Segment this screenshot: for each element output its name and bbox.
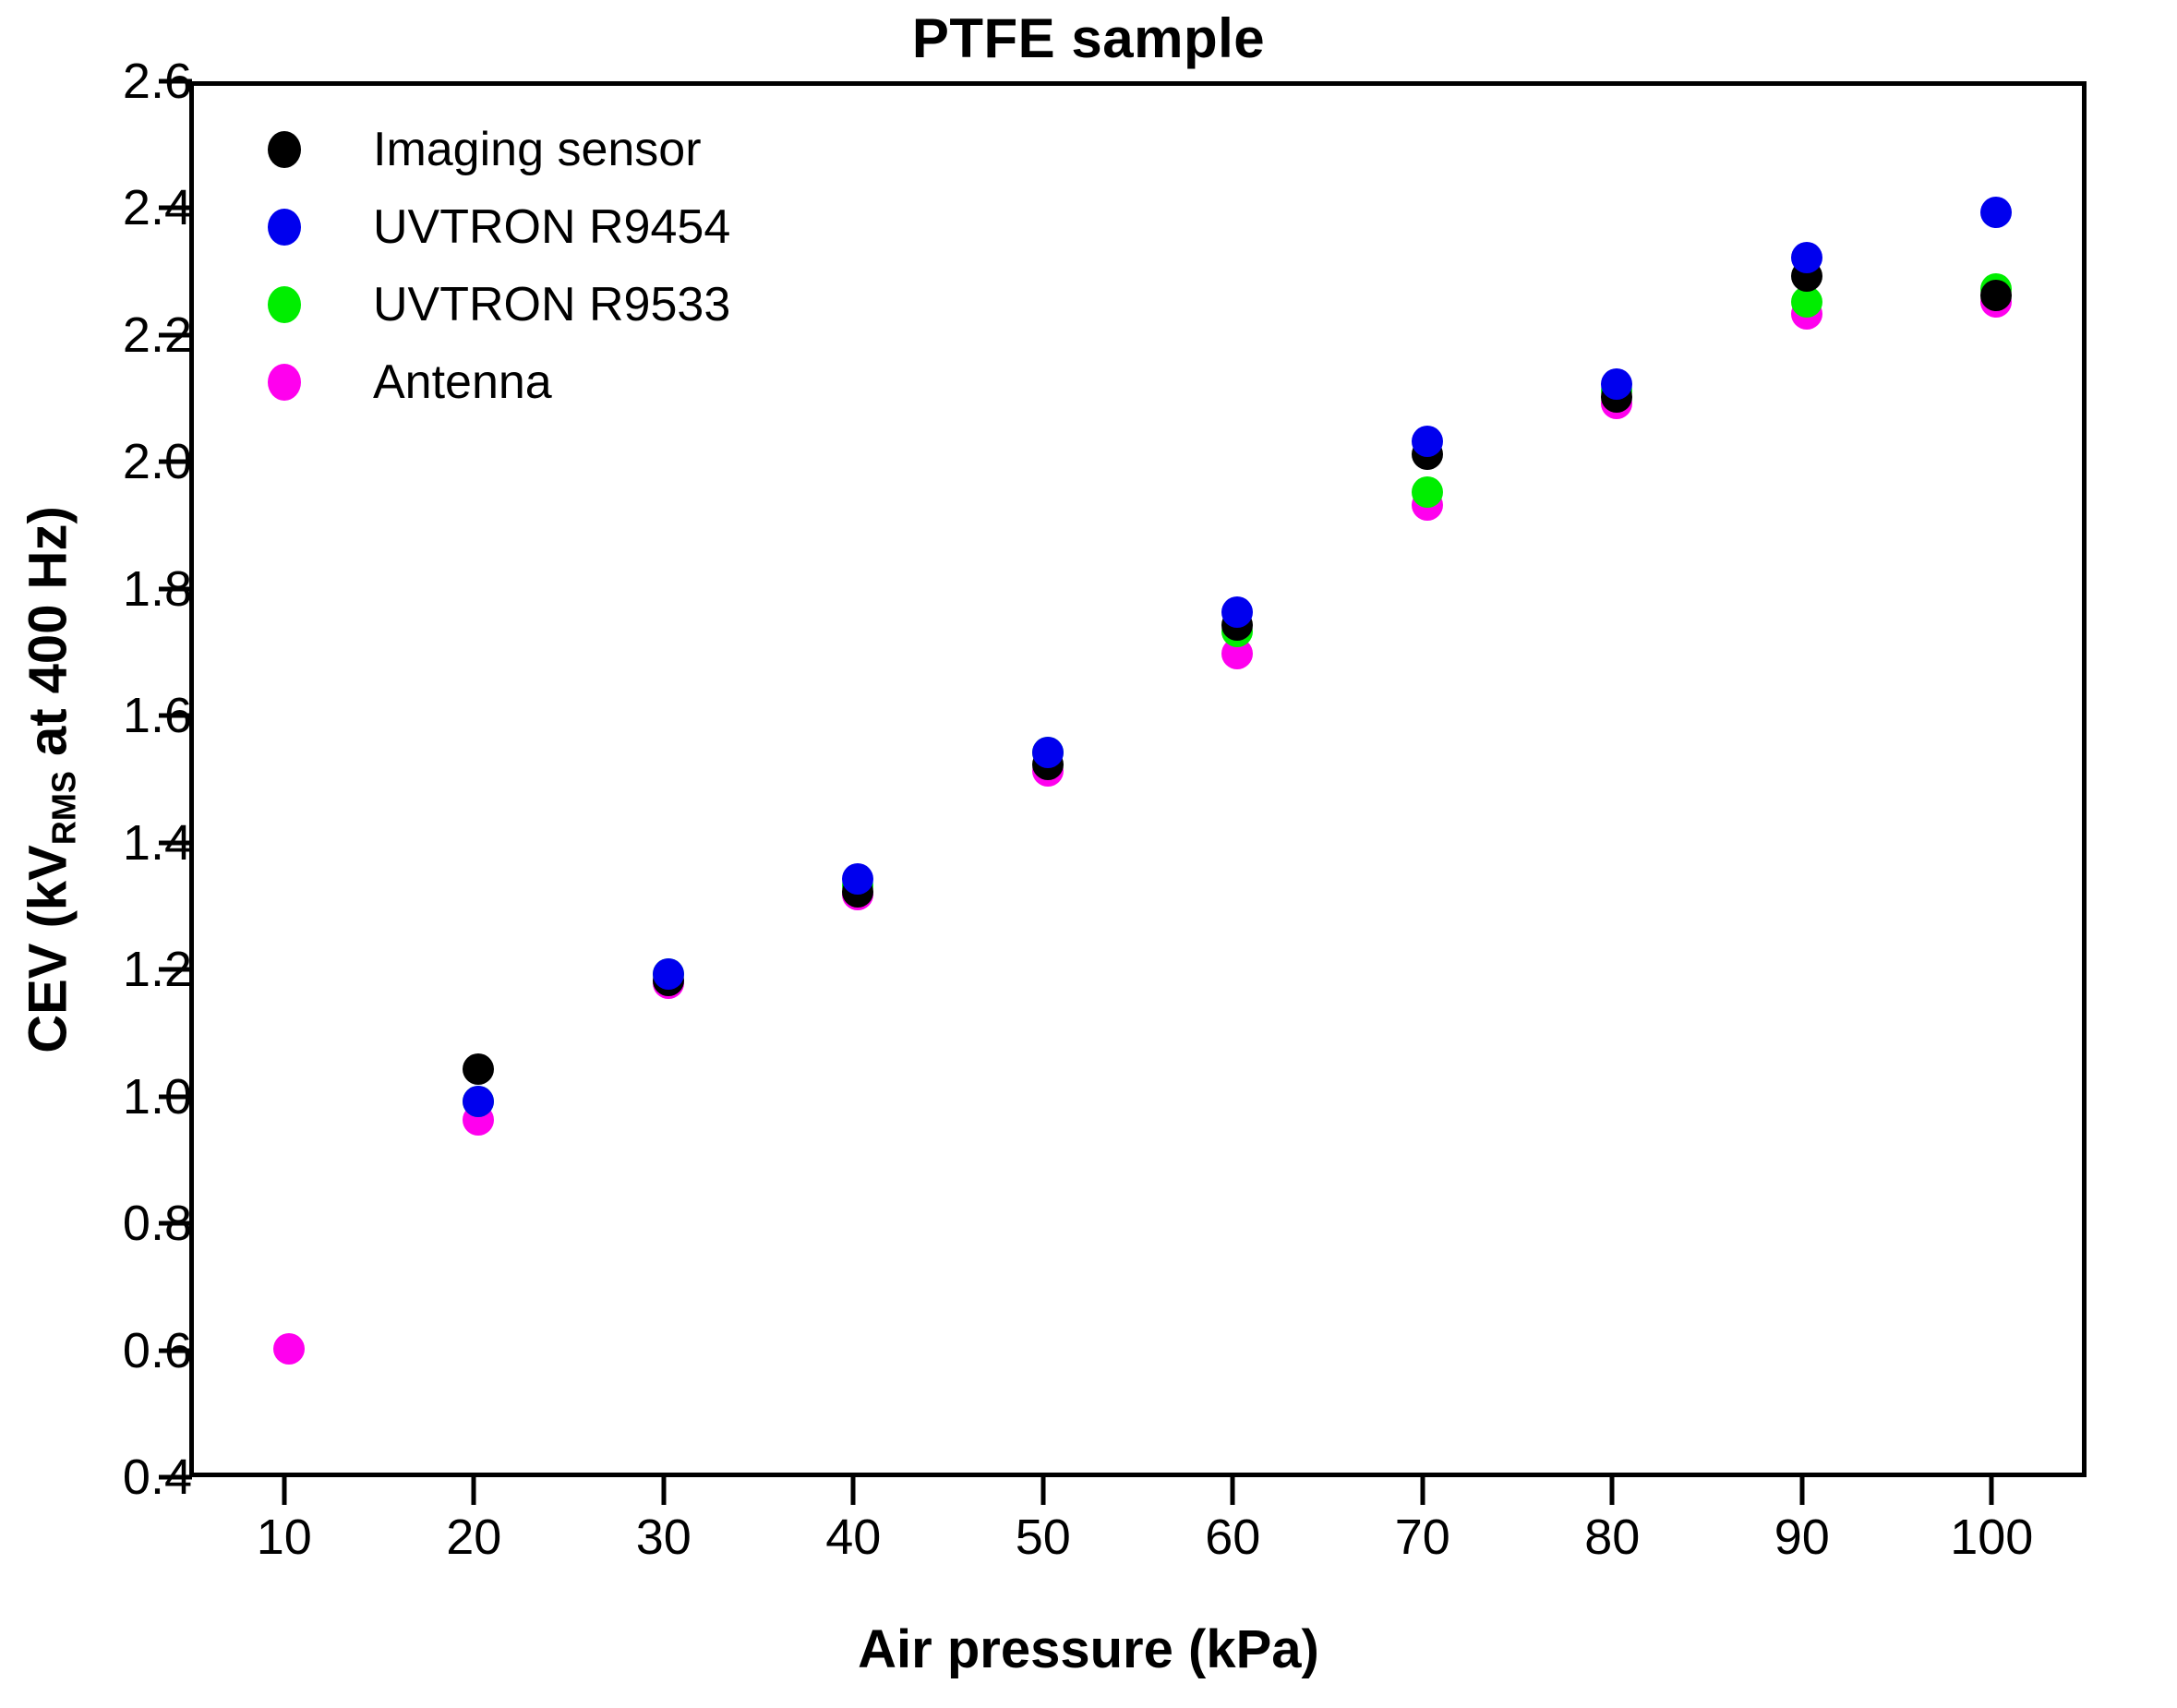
legend-item-label: UVTRON R9454 <box>373 203 730 251</box>
x-tick-label: 30 <box>571 1512 756 1562</box>
y-tick-mark <box>159 206 192 210</box>
x-tick-mark <box>282 1477 286 1505</box>
y-tick-mark <box>159 1475 192 1480</box>
y-tick-mark <box>159 714 192 718</box>
y-tick-mark <box>159 840 192 845</box>
y-axis-title-post: at 400 Hz) <box>18 506 78 771</box>
legend-item[interactable]: Antenna <box>249 351 822 414</box>
legend-item-label: UVTRON R9533 <box>373 281 730 329</box>
x-tick-label: 60 <box>1140 1512 1325 1562</box>
x-tick-mark <box>1610 1477 1615 1505</box>
x-tick-label: 20 <box>381 1512 566 1562</box>
legend-item-label: Antenna <box>373 358 552 406</box>
x-tick-mark <box>1231 1477 1235 1505</box>
legend-item-label: Imaging sensor <box>373 126 702 174</box>
data-point <box>653 958 684 990</box>
data-point <box>1412 476 1443 508</box>
data-point <box>842 863 873 895</box>
chart-figure: PTFE sample 0.40.60.81.01.21.41.61.82.02… <box>0 0 2177 1708</box>
data-point <box>463 1086 494 1117</box>
y-tick-mark <box>159 1221 192 1226</box>
x-axis-title: Air pressure (kPa) <box>0 1618 2177 1682</box>
y-tick-mark <box>159 332 192 337</box>
chart-legend: Imaging sensorUVTRON R9454UVTRON R9533An… <box>249 118 822 428</box>
legend-marker-icon <box>268 364 301 401</box>
x-tick-mark <box>472 1477 476 1505</box>
legend-marker-icon <box>268 131 301 168</box>
x-tick-label: 40 <box>761 1512 945 1562</box>
y-tick-mark <box>159 968 192 972</box>
data-point <box>1980 280 2012 311</box>
data-point <box>1601 368 1632 400</box>
data-point <box>1980 197 2012 228</box>
legend-item[interactable]: Imaging sensor <box>249 118 822 181</box>
x-tick-label: 100 <box>1899 1512 2084 1562</box>
x-tick-mark <box>1420 1477 1425 1505</box>
data-point <box>1032 737 1064 768</box>
data-point <box>1412 426 1443 457</box>
x-tick-mark <box>661 1477 666 1505</box>
x-tick-label: 70 <box>1330 1512 1515 1562</box>
y-tick-mark <box>159 79 192 84</box>
data-point <box>463 1053 494 1085</box>
legend-marker-icon <box>268 286 301 323</box>
y-tick-mark <box>159 460 192 464</box>
chart-title: PTFE sample <box>0 6 2177 72</box>
data-point <box>273 1333 305 1365</box>
x-tick-label: 10 <box>192 1512 377 1562</box>
x-tick-mark <box>1990 1477 1994 1505</box>
y-axis-title: CEV (kVRMS at 400 Hz) <box>20 82 84 1478</box>
data-point <box>1791 242 1822 273</box>
legend-marker-icon <box>268 209 301 246</box>
x-tick-label: 90 <box>1710 1512 1894 1562</box>
y-tick-mark <box>159 1094 192 1099</box>
legend-item[interactable]: UVTRON R9454 <box>249 196 822 259</box>
y-tick-mark <box>159 586 192 591</box>
x-tick-mark <box>1040 1477 1045 1505</box>
y-tick-mark <box>159 1348 192 1353</box>
data-point <box>1221 596 1253 628</box>
legend-item[interactable]: UVTRON R9533 <box>249 273 822 336</box>
x-tick-mark <box>851 1477 856 1505</box>
y-axis-title-pre: CEV (kV <box>18 845 78 1053</box>
y-axis-title-subscript: RMS <box>45 771 83 845</box>
x-tick-label: 50 <box>951 1512 1136 1562</box>
x-tick-label: 80 <box>1520 1512 1704 1562</box>
x-tick-mark <box>1799 1477 1804 1505</box>
